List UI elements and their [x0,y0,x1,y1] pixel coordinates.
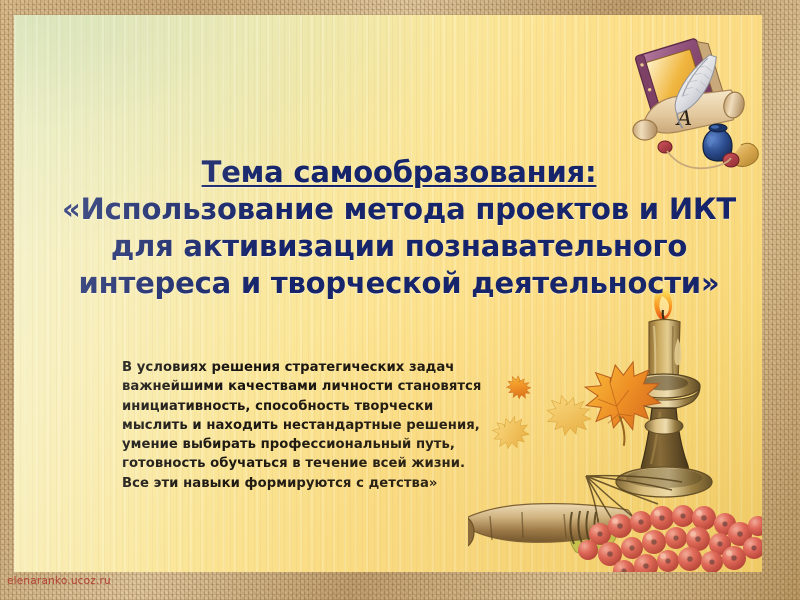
body-line-6: готовность обучаться в течение всей жизн… [122,454,504,473]
body-line-7: Все эти навыки формируются с детства» [122,474,504,493]
title-line-2: «Использование метода проектов и ИКТ [54,191,744,228]
slide-canvas-frame: A [0,0,800,600]
body-line-4: мыслить и находить нестандартные решения… [122,416,504,435]
body-line-2: важнейшими качествами личности становятс… [122,377,504,396]
body-line-3: инициативность, способность творчески [122,397,504,416]
slide-inner-canvas: A [14,15,762,572]
body-line-5: умение выбирать профессиональный путь, [122,435,504,454]
site-watermark: elenaranko.ucoz.ru [7,575,111,587]
title-line-1: Тема самообразования: [54,154,744,191]
autumn-candle-rowan-clipart [468,276,762,572]
title-line-4: интереса и творческой деятельности» [54,265,744,302]
title-line-3: для активизации познавательного [54,228,744,265]
slide-body-text: В условиях решения стратегических задач … [122,358,504,493]
slide-title: Тема самообразования: «Использование мет… [54,154,744,302]
body-line-1: В условиях решения стратегических задач [122,358,504,377]
